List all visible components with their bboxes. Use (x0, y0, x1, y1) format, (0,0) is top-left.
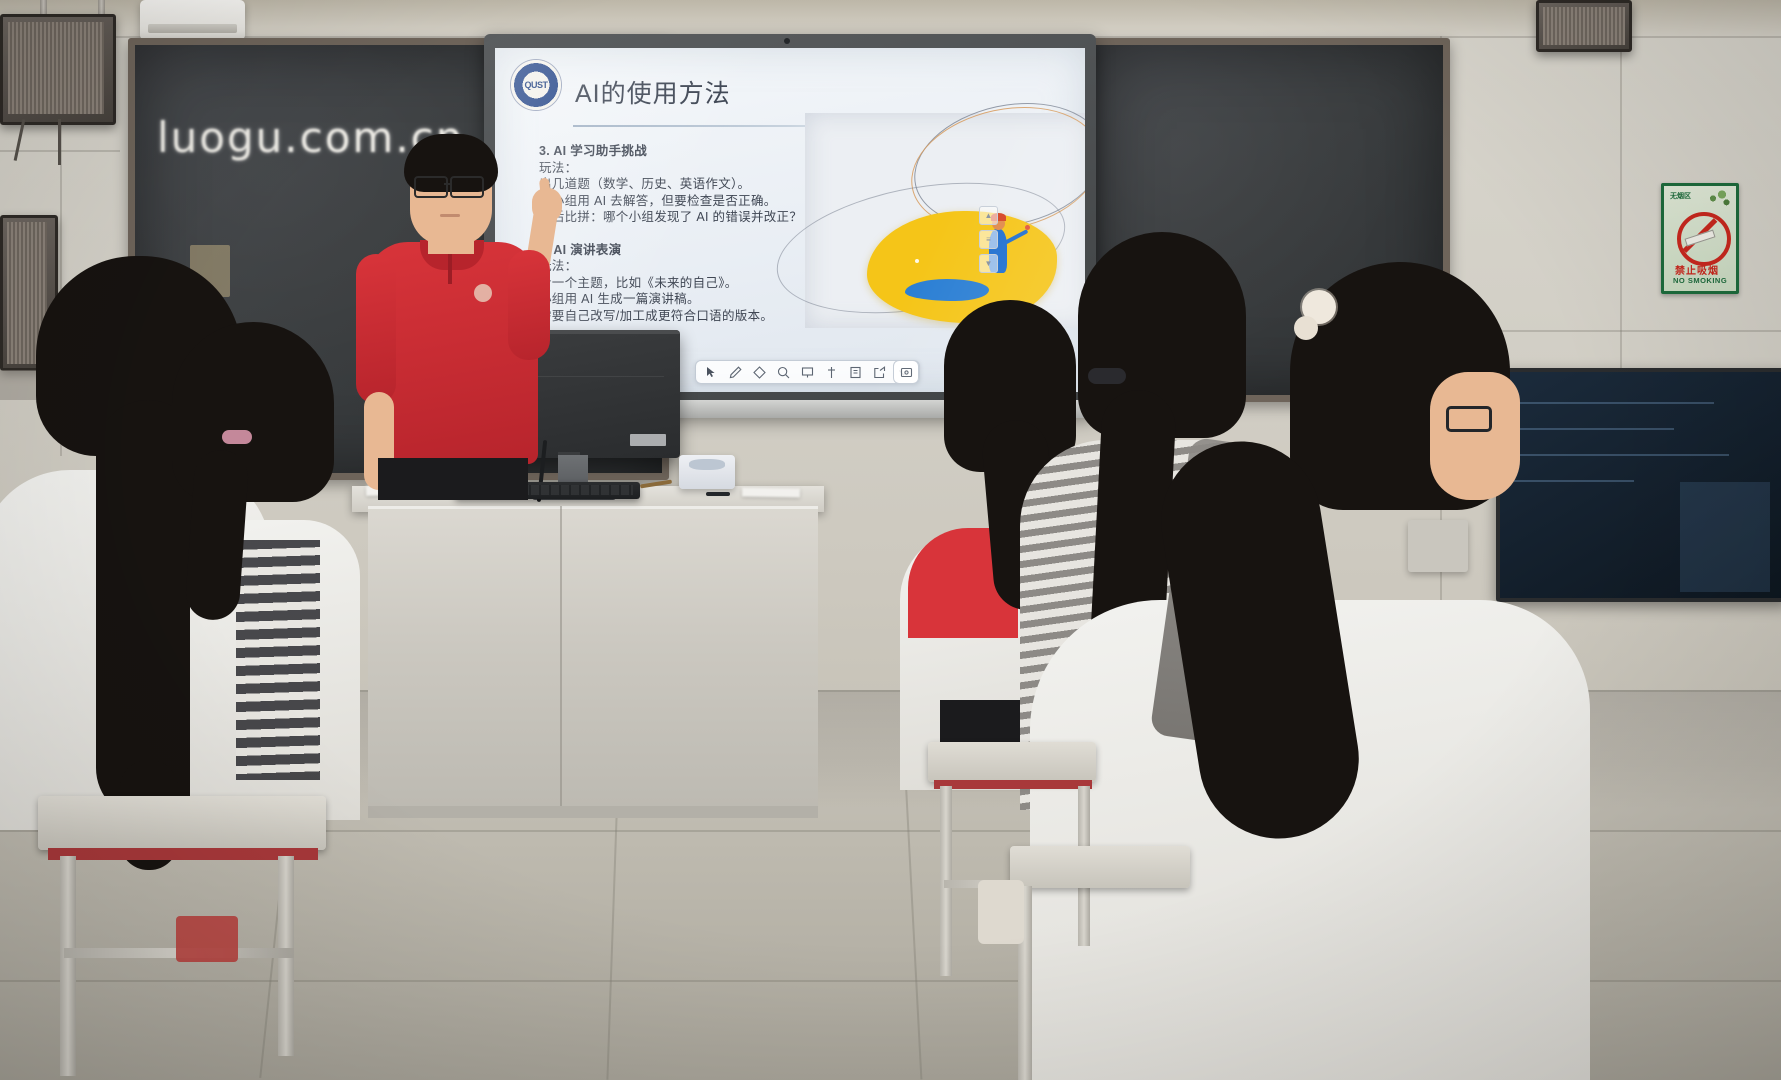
wall-speaker-left (0, 14, 116, 125)
speaker-bracket (58, 119, 61, 165)
eraser-icon[interactable] (752, 365, 767, 380)
stool-frame-center (934, 780, 1092, 789)
whiteboard-camera-icon (784, 38, 790, 44)
board-icon[interactable] (848, 365, 863, 380)
student-hair-tie (222, 430, 252, 444)
no-smoking-chinese: 禁止吸烟 (1675, 262, 1719, 277)
pen-icon[interactable] (728, 365, 743, 380)
teacher-shirt-logo (474, 284, 492, 302)
teacher-pants (378, 458, 528, 500)
paper-sheet (742, 487, 800, 497)
qust-logo-text: QUST (524, 80, 547, 90)
classroom-scene: 无烟区 禁止吸烟 NO SMOKING luogu.com.cn QUST AI… (0, 0, 1781, 1080)
teacher-desk-base (368, 806, 818, 818)
tissue-box (679, 455, 735, 489)
no-smoking-english: NO SMOKING (1673, 276, 1727, 285)
teacher-mouth (440, 214, 460, 217)
magnifier-icon[interactable] (776, 365, 791, 380)
teacher-glasses-right (450, 176, 484, 198)
qust-logo: QUST (511, 60, 561, 110)
floor-item (978, 880, 1024, 944)
teacher-glasses-left (414, 176, 448, 198)
floor-bag (176, 916, 238, 962)
shape-icon[interactable] (800, 365, 815, 380)
stool-seat-left (38, 796, 326, 850)
chevron-up-icon[interactable]: ▲ (979, 206, 998, 225)
chevron-down-icon[interactable]: ▼ (979, 254, 998, 273)
hair-ornament (1294, 316, 1318, 340)
student-glasses (1446, 406, 1492, 432)
menu-icon[interactable]: ≡ (979, 230, 998, 249)
stool-leg (60, 856, 76, 1076)
student-bag-strap (236, 540, 320, 780)
desk-panel-seam (560, 506, 562, 806)
teacher-glasses-bridge (444, 183, 452, 185)
teacher-sleeve-right (508, 250, 550, 360)
desk-side-box (1408, 520, 1468, 572)
teacher-placket (448, 250, 452, 284)
stool-seat-center (928, 742, 1096, 782)
student-monitor (1496, 368, 1781, 602)
export-icon[interactable] (872, 365, 887, 380)
whiteboard-screen-button[interactable] (893, 360, 919, 384)
teacher-desk-front (368, 506, 818, 818)
stool-seat-right (1010, 846, 1190, 888)
no-smoking-sign: 无烟区 禁止吸烟 NO SMOKING (1661, 183, 1739, 294)
monitor-label (630, 434, 666, 446)
whiteboard-side-buttons[interactable]: ▲ ≡ ▼ (979, 206, 998, 273)
sign-foliage-decor (1704, 188, 1734, 214)
cursor-icon[interactable] (704, 365, 719, 380)
whiteboard-toolbar[interactable] (695, 360, 920, 384)
no-smoking-zone-label: 无烟区 (1670, 191, 1691, 201)
student-hair-tie (1088, 368, 1126, 384)
wall-speaker-right (1536, 0, 1632, 52)
student-face (1430, 372, 1520, 500)
wall-upper-band (0, 0, 1781, 36)
pen (706, 492, 730, 496)
air-conditioner (140, 0, 245, 40)
slide-title: AI的使用方法 (575, 74, 731, 110)
line-icon[interactable] (824, 365, 839, 380)
desk-highlight (368, 506, 818, 509)
teacher-sleeve-left (356, 254, 396, 404)
slide-illustration (805, 113, 1085, 328)
